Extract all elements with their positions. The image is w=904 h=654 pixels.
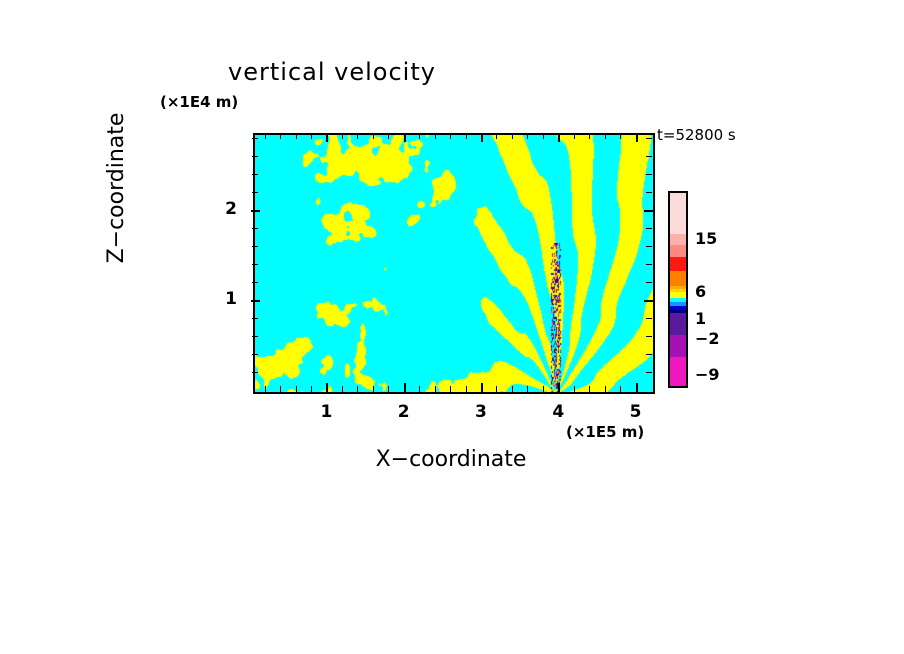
colorbar-band-4 — [670, 271, 686, 286]
y-tick-label-0: 1 — [217, 289, 245, 309]
x-tick-minor — [296, 386, 297, 392]
x-tick-major-top-2 — [481, 133, 483, 142]
x-tick-major-3 — [558, 383, 560, 392]
x-tick-minor — [435, 386, 436, 392]
y-axis-units-label: (×1E4 m) — [160, 93, 238, 111]
x-tick-minor-top — [620, 133, 621, 139]
x-tick-minor — [311, 386, 312, 392]
time-annotation: t=52800 s — [657, 126, 736, 144]
page-title: vertical velocity — [0, 58, 904, 86]
y-tick-label-1: 2 — [217, 199, 245, 219]
y-tick-major-0 — [251, 300, 260, 302]
x-tick-minor — [466, 386, 467, 392]
x-tick-minor-top — [265, 133, 266, 139]
x-axis-title: X−coordinate — [0, 447, 904, 472]
x-tick-label-3: 4 — [544, 402, 572, 422]
y-tick-minor — [252, 192, 258, 193]
plot-title-text: vertical velocity — [228, 58, 436, 86]
x-tick-minor — [342, 386, 343, 392]
y-tick-minor-right — [646, 318, 652, 319]
x-tick-major-4 — [636, 383, 638, 392]
y-tick-minor — [252, 156, 258, 157]
y-tick-minor-right — [646, 372, 652, 373]
x-tick-major-top-3 — [558, 133, 560, 142]
plot-area[interactable] — [253, 133, 655, 394]
x-tick-minor — [512, 386, 513, 392]
y-tick-major-1 — [251, 210, 260, 212]
colorbar-band-0 — [670, 193, 686, 235]
x-tick-minor — [357, 386, 358, 392]
colorbar-tick-label-2: 1 — [695, 309, 706, 328]
colorbar-band-13 — [670, 335, 686, 358]
x-tick-minor — [450, 386, 451, 392]
y-tick-minor — [252, 354, 258, 355]
y-axis-title-text: Z−coordinate — [104, 113, 129, 264]
x-tick-major-top-4 — [636, 133, 638, 142]
x-tick-minor-top — [296, 133, 297, 139]
y-tick-minor-right — [646, 138, 652, 139]
colorbar-tick-label-1: 6 — [695, 282, 706, 301]
x-tick-minor-top — [512, 133, 513, 139]
y-axis-title: Z−coordinate — [104, 88, 129, 288]
y-tick-minor — [252, 246, 258, 247]
colorbar-tick-label-4: −9 — [695, 365, 720, 384]
x-tick-major-0 — [326, 383, 328, 392]
x-axis-title-text: X−coordinate — [376, 447, 527, 472]
x-tick-major-top-1 — [404, 133, 406, 142]
y-tick-minor-right — [646, 246, 652, 247]
velocity-field-heatmap — [255, 135, 653, 392]
x-tick-minor-top — [543, 133, 544, 139]
y-tick-minor-right — [646, 282, 652, 283]
x-tick-minor-top — [435, 133, 436, 139]
y-tick-minor — [252, 174, 258, 175]
x-tick-minor-top — [373, 133, 374, 139]
x-tick-minor — [605, 386, 606, 392]
y-tick-minor-right — [646, 264, 652, 265]
x-tick-minor-top — [589, 133, 590, 139]
x-tick-minor — [496, 386, 497, 392]
x-tick-label-0: 1 — [312, 402, 340, 422]
x-tick-major-1 — [404, 383, 406, 392]
y-tick-major-right-0 — [644, 300, 653, 302]
y-tick-minor-right — [646, 336, 652, 337]
x-tick-minor — [388, 386, 389, 392]
y-tick-minor — [252, 336, 258, 337]
x-tick-minor — [373, 386, 374, 392]
y-tick-minor-right — [646, 156, 652, 157]
x-tick-label-4: 5 — [622, 402, 650, 422]
x-tick-minor-top — [419, 133, 420, 139]
y-tick-minor-right — [646, 192, 652, 193]
y-tick-minor-right — [646, 354, 652, 355]
x-tick-minor-top — [527, 133, 528, 139]
x-tick-label-1: 2 — [390, 402, 418, 422]
colorbar[interactable] — [668, 191, 688, 388]
x-tick-minor-top — [357, 133, 358, 139]
colorbar-tick-label-3: −2 — [695, 329, 720, 348]
x-tick-major-top-0 — [326, 133, 328, 142]
x-axis-units-label: (×1E5 m) — [566, 423, 644, 441]
x-tick-minor-top — [311, 133, 312, 139]
y-tick-minor — [252, 228, 258, 229]
x-tick-minor-top — [496, 133, 497, 139]
x-tick-minor — [419, 386, 420, 392]
x-tick-major-2 — [481, 383, 483, 392]
y-tick-minor — [252, 138, 258, 139]
x-tick-minor — [620, 386, 621, 392]
colorbar-band-12 — [670, 313, 686, 336]
x-tick-minor-top — [466, 133, 467, 139]
x-tick-minor-top — [574, 133, 575, 139]
y-tick-minor — [252, 372, 258, 373]
x-tick-minor-top — [280, 133, 281, 139]
x-tick-minor — [280, 386, 281, 392]
y-tick-minor-right — [646, 174, 652, 175]
y-tick-minor — [252, 282, 258, 283]
x-tick-minor — [574, 386, 575, 392]
x-tick-minor — [543, 386, 544, 392]
x-tick-label-2: 3 — [467, 402, 495, 422]
colorbar-band-3 — [670, 257, 686, 272]
y-tick-minor-right — [646, 228, 652, 229]
x-tick-minor — [527, 386, 528, 392]
y-tick-minor — [252, 318, 258, 319]
x-tick-minor-top — [450, 133, 451, 139]
x-tick-minor — [589, 386, 590, 392]
y-tick-minor — [252, 264, 258, 265]
colorbar-band-14 — [670, 357, 686, 386]
x-tick-minor-top — [605, 133, 606, 139]
x-tick-minor-top — [388, 133, 389, 139]
y-tick-major-right-1 — [644, 210, 653, 212]
x-tick-minor-top — [342, 133, 343, 139]
x-tick-minor — [265, 386, 266, 392]
colorbar-tick-label-0: 15 — [695, 229, 717, 248]
colorbar-band-2 — [670, 245, 686, 257]
